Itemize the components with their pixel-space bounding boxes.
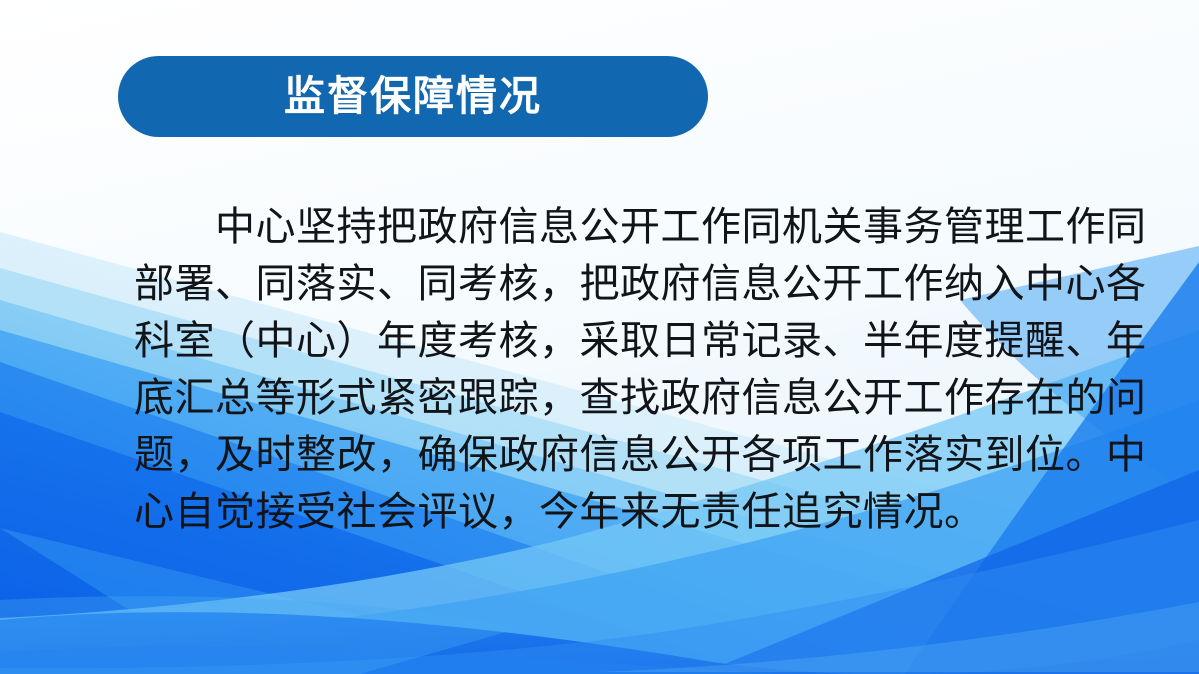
body-line: 科室（中心）年度考核，采取日常记录、半年度提醒、年 — [134, 312, 1086, 369]
body-line: 题，及时整改，确保政府信息公开各项工作落实到位。中 — [134, 426, 1086, 483]
slide-content: 监督保障情况 中心坚持把政府信息公开工作同机关事务管理工作同 部署、同落实、同考… — [0, 0, 1199, 674]
body-line: 底汇总等形式紧密跟踪，查找政府信息公开工作存在的问 — [134, 369, 1086, 426]
body-line: 中心坚持把政府信息公开工作同机关事务管理工作同 — [134, 198, 1086, 255]
body-paragraph: 中心坚持把政府信息公开工作同机关事务管理工作同 部署、同落实、同考核，把政府信息… — [134, 198, 1086, 540]
title-pill-banner: 监督保障情况 — [118, 56, 708, 137]
body-line: 部署、同落实、同考核，把政府信息公开工作纳入中心各 — [134, 255, 1086, 312]
page-title: 监督保障情况 — [284, 76, 542, 117]
body-line: 心自觉接受社会评议，今年来无责任追究情况。 — [134, 483, 1086, 540]
presentation-slide: 监督保障情况 中心坚持把政府信息公开工作同机关事务管理工作同 部署、同落实、同考… — [0, 0, 1199, 674]
